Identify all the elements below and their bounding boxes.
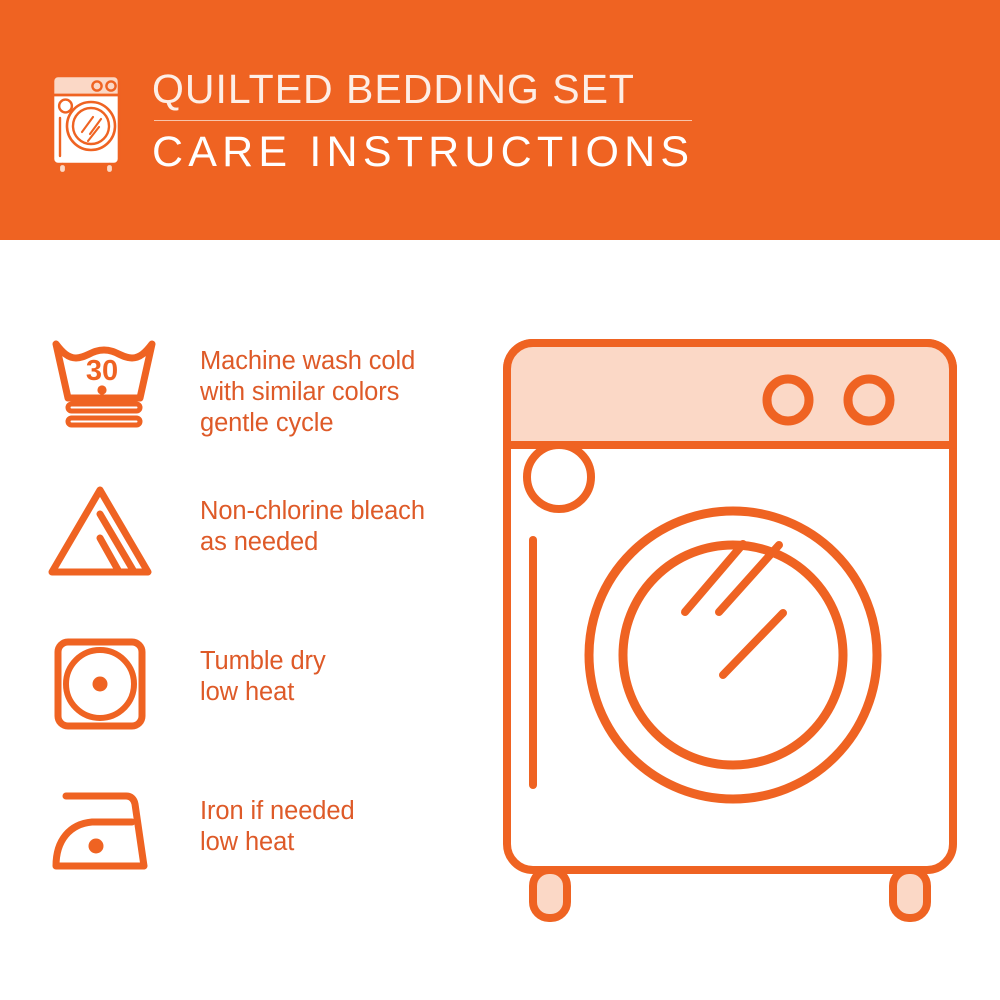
wash-temperature-label: 30 — [86, 355, 118, 387]
care-line: low heat — [200, 827, 355, 858]
care-row-tumble-dry: Tumble dry low heat — [48, 630, 478, 780]
care-line: Tumble dry — [200, 646, 326, 677]
care-text-bleach: Non-chlorine bleach as needed — [200, 480, 425, 558]
iron-icon — [48, 780, 160, 884]
wash-basin-icon: 30 — [48, 330, 160, 434]
care-line: as needed — [200, 527, 425, 558]
care-line: Non-chlorine bleach — [200, 496, 425, 527]
care-instruction-list: 30 Machine wash cold with similar colors… — [48, 330, 478, 930]
care-text-wash: Machine wash cold with similar colors ge… — [200, 330, 415, 439]
care-row-bleach: Non-chlorine bleach as needed — [48, 480, 478, 630]
bleach-triangle-icon — [48, 480, 160, 584]
care-line: Machine wash cold — [200, 346, 415, 377]
care-row-wash: 30 Machine wash cold with similar colors… — [48, 330, 478, 480]
leg-left — [533, 870, 567, 918]
care-instructions-page: QUILTED BEDDING SET CARE INSTRUCTIONS 30… — [0, 0, 1000, 1000]
washing-machine-icon — [44, 68, 136, 176]
page-subtitle: CARE INSTRUCTIONS — [152, 127, 694, 177]
washing-machine-illustration — [495, 335, 965, 925]
knob-left[interactable] — [767, 379, 809, 421]
care-line: low heat — [200, 677, 326, 708]
tumble-dry-icon — [48, 630, 160, 734]
header-banner: QUILTED BEDDING SET CARE INSTRUCTIONS — [0, 0, 1000, 240]
care-text-tumble-dry: Tumble dry low heat — [200, 630, 326, 708]
header-content: QUILTED BEDDING SET CARE INSTRUCTIONS — [44, 66, 694, 177]
title-divider — [154, 120, 692, 121]
knob-right[interactable] — [848, 379, 890, 421]
care-line: gentle cycle — [200, 408, 415, 439]
care-line: Iron if needed — [200, 796, 355, 827]
care-line: with similar colors — [200, 377, 415, 408]
page-title: QUILTED BEDDING SET — [152, 66, 694, 112]
header-title-block: QUILTED BEDDING SET CARE INSTRUCTIONS — [152, 66, 694, 177]
care-text-iron: Iron if needed low heat — [200, 780, 355, 858]
care-row-iron: Iron if needed low heat — [48, 780, 478, 930]
leg-right — [893, 870, 927, 918]
